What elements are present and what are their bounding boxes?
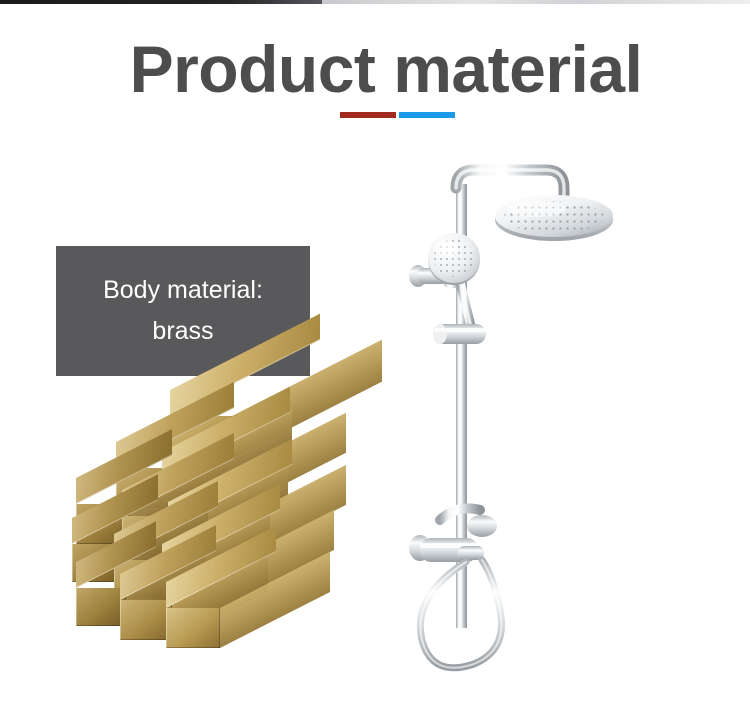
material-label-line1: Body material: bbox=[103, 278, 263, 303]
cropped-image-sliver bbox=[0, 0, 750, 5]
slider-bracket bbox=[433, 324, 486, 344]
diverter-knob bbox=[467, 515, 497, 537]
sliver-light-segment bbox=[322, 0, 750, 4]
sliver-dark-segment bbox=[0, 0, 322, 4]
brass-bar-end-face bbox=[166, 608, 220, 648]
page-title: Product material bbox=[0, 36, 750, 102]
brass-bar-end-face bbox=[120, 600, 172, 640]
rain-shower-head bbox=[495, 195, 613, 241]
banner-header: Product material bbox=[0, 36, 750, 102]
brass-bars-photo bbox=[70, 382, 318, 650]
title-underline-accents bbox=[0, 112, 750, 118]
accent-rule-red bbox=[340, 112, 396, 118]
material-label-line2: brass bbox=[152, 319, 213, 344]
accent-rule-blue bbox=[399, 112, 455, 118]
shower-set-photo bbox=[396, 148, 626, 678]
mixer-valve bbox=[409, 508, 497, 562]
brass-bar-end-face bbox=[76, 588, 126, 626]
lower-riser bbox=[456, 588, 467, 628]
